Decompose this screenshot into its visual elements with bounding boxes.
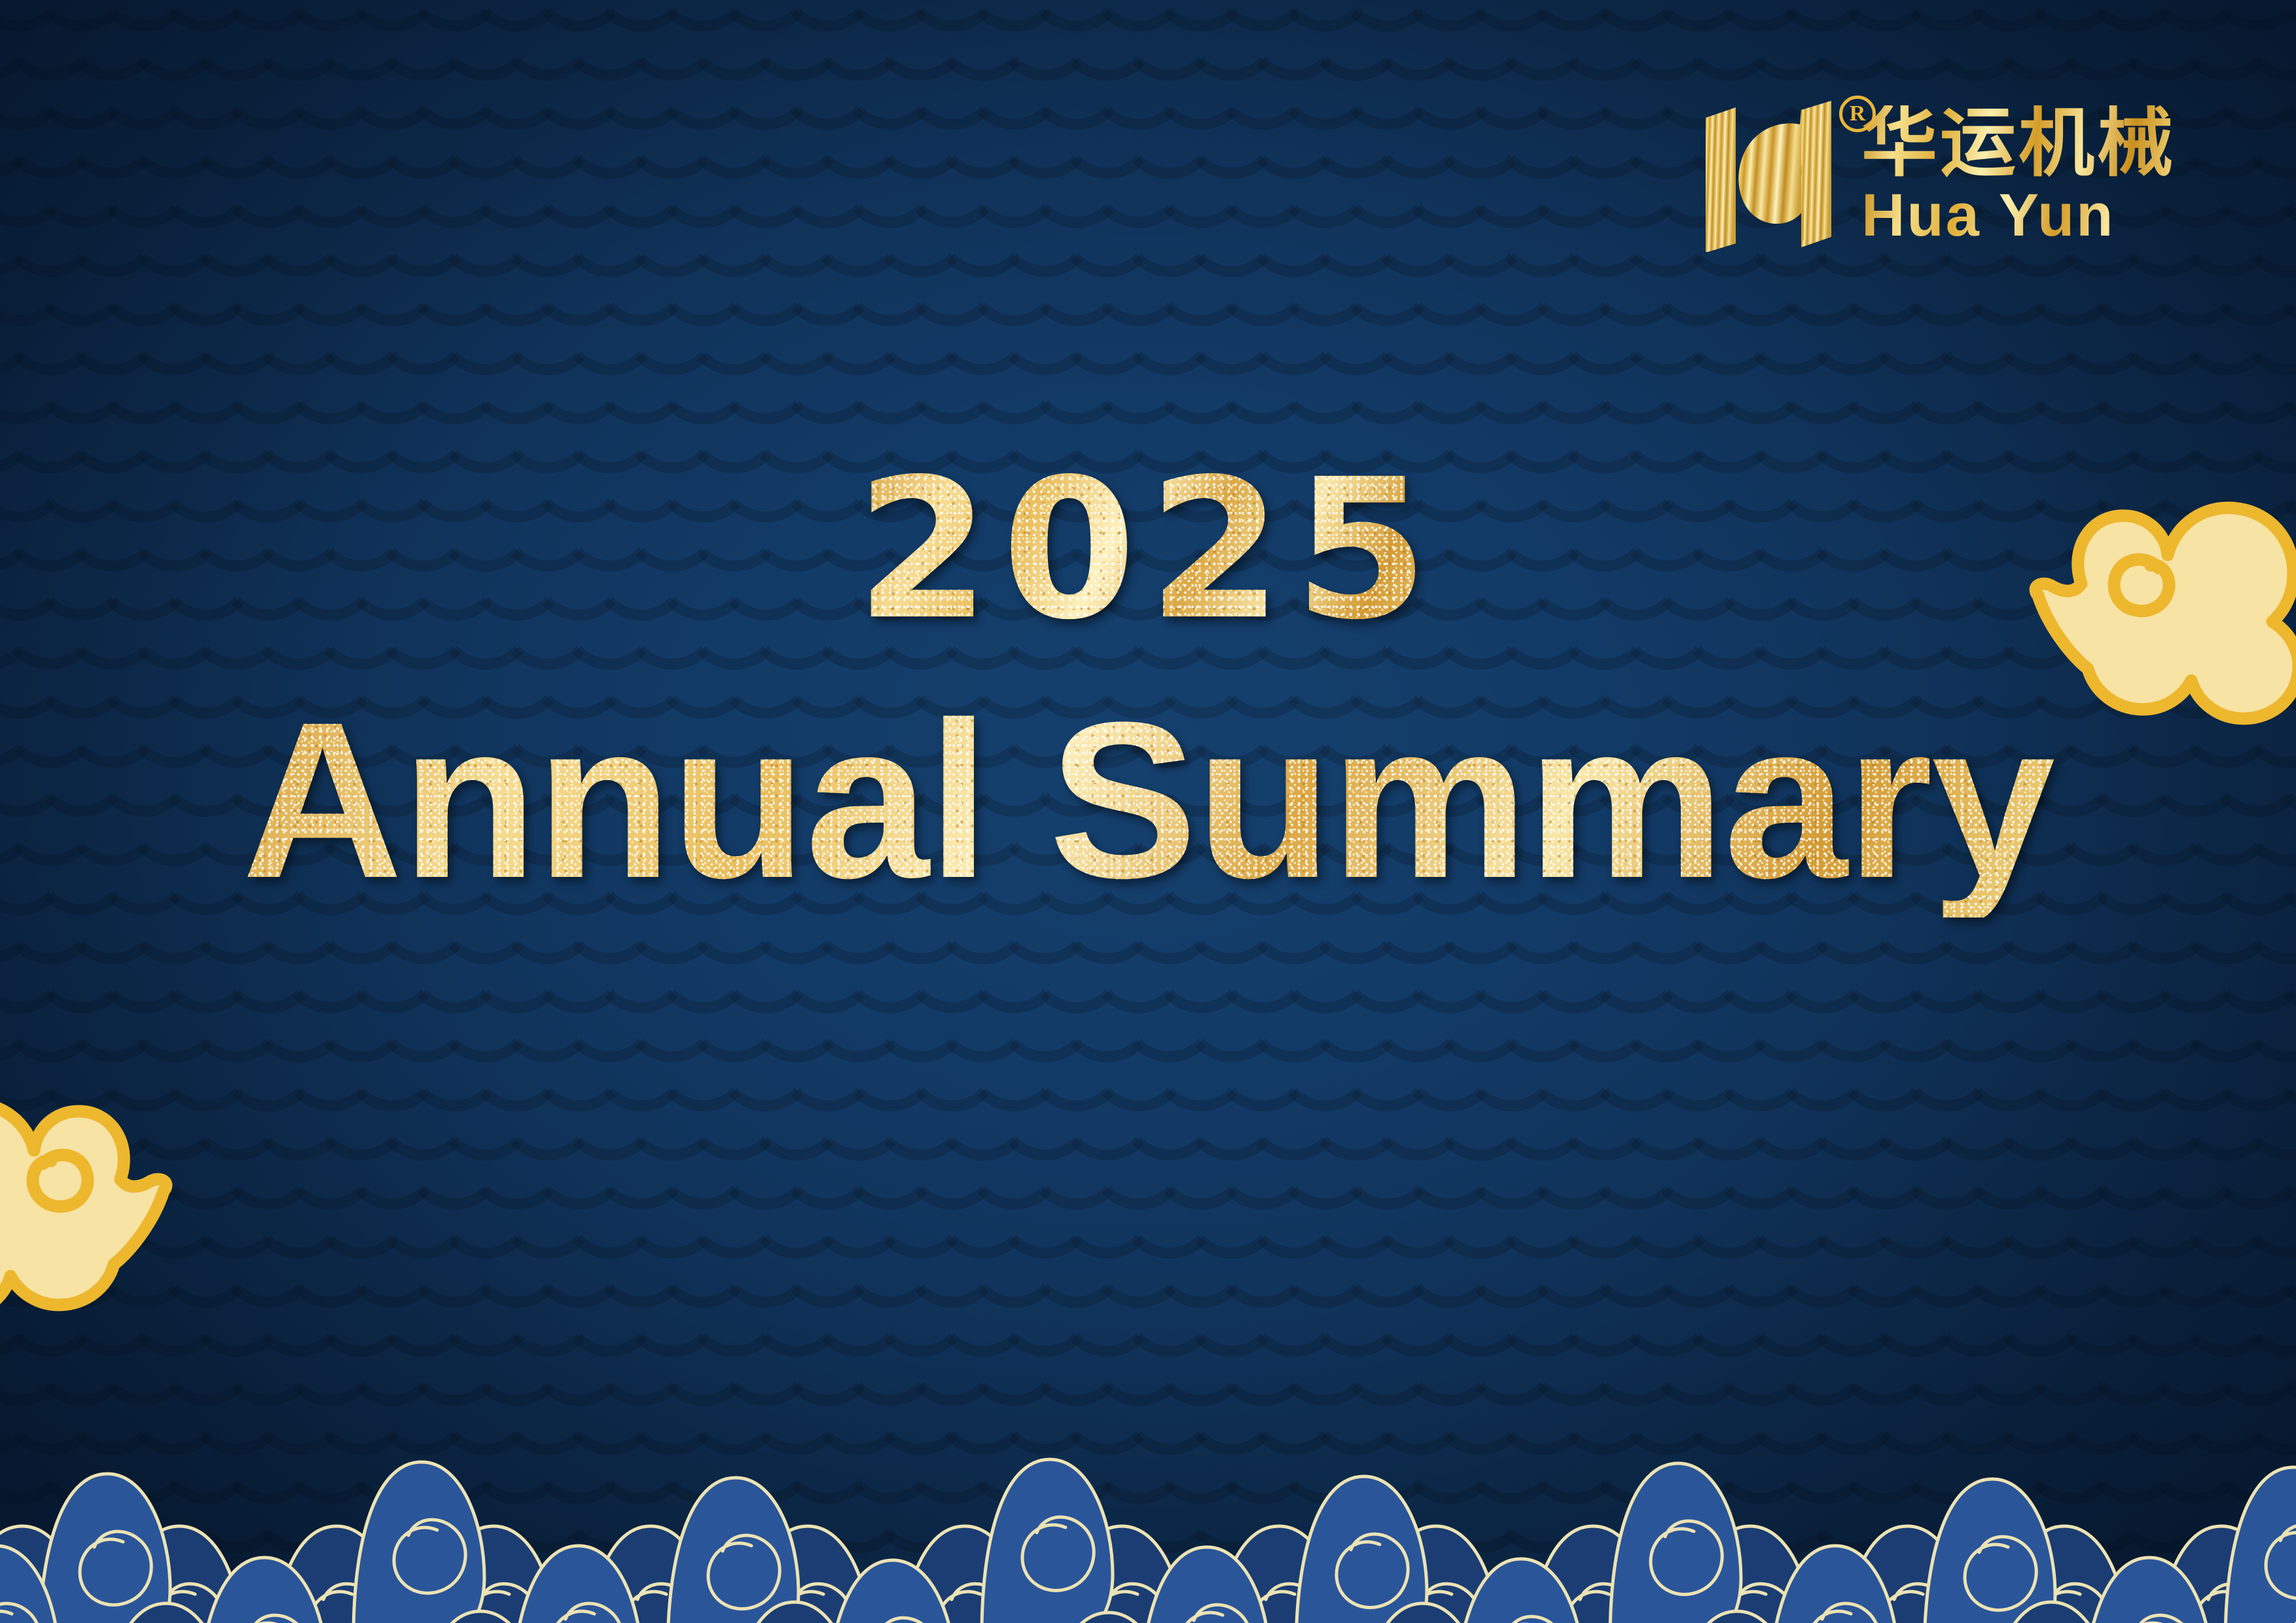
chinese-wave-band [0, 1387, 2296, 1623]
registered-trademark-icon: R [1839, 96, 1876, 132]
auspicious-cloud-left-icon [0, 1054, 183, 1315]
auspicious-cloud-right-icon [2018, 458, 2296, 720]
logo-chinese-name: 华运机械 [1861, 105, 2176, 181]
hy-monogram-icon: R [1702, 98, 1839, 252]
logo-english-name: Hua Yun [1861, 185, 2176, 245]
title-slide: R 华运机械 Hua Yun 2025 Annual Summary [0, 0, 2296, 1623]
logo-wordmark: 华运机械 Hua Yun [1861, 105, 2176, 245]
company-logo: R 华运机械 Hua Yun [1702, 98, 2176, 252]
